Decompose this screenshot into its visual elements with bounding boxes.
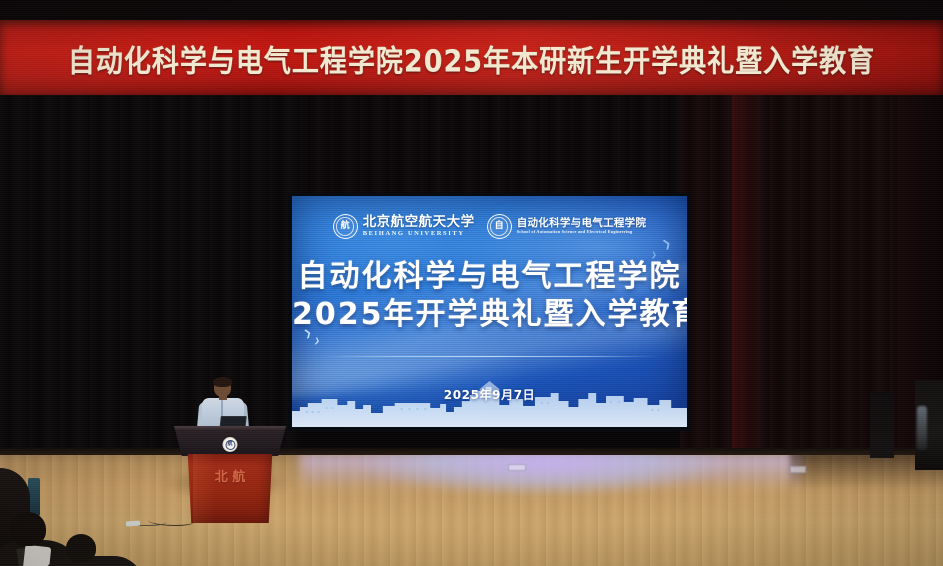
university-seal-glyph: 航: [334, 215, 357, 238]
audience-head: [66, 534, 96, 562]
floor-power-plate: [126, 521, 140, 527]
projection-screen: ❯ ❯ ❯ ❯ 航 北京航空航天大学 BEIHANG UNIVERSITY: [292, 196, 687, 427]
podium-top: 航: [174, 426, 286, 456]
projection-screen-frame: ❯ ❯ ❯ ❯ 航 北京航空航天大学 BEIHANG UNIVERSITY: [288, 193, 690, 431]
podium-highlight: [193, 454, 216, 523]
floor-marker: [508, 464, 526, 471]
podium-body: 北 航: [186, 454, 274, 523]
university-seal-icon: 航: [333, 214, 358, 239]
slide-title-divider: [320, 356, 659, 357]
podium-top-edge: [174, 426, 286, 430]
university-name-cn: 北京航空航天大学: [363, 216, 475, 230]
school-logo: 自 自动化科学与电气工程学院 School of Automation Scie…: [487, 214, 647, 239]
podium-calligraphy: 北 航: [186, 470, 274, 486]
speaker-hair: [213, 377, 232, 387]
auditorium-scene: 自动化科学与电气工程学院2025年本研新生开学典礼暨入学教育 ❯ ❯ ❯ ❯ 航: [0, 0, 943, 566]
floor-screen-glow: [330, 455, 760, 511]
stage-right-equipment: [870, 392, 894, 458]
podium-emblem-icon: 航: [223, 437, 238, 452]
slide-logo-row: 航 北京航空航天大学 BEIHANG UNIVERSITY 自 自动化科学与电气…: [292, 214, 687, 239]
ceiling-strip: [0, 0, 943, 21]
bird-decor-icon: ❯: [313, 337, 320, 345]
audience-silhouette: [56, 534, 126, 566]
audience-collar: [23, 545, 52, 566]
slide-title-line-1: 自动化科学与电气工程学院: [292, 258, 687, 296]
event-banner: 自动化科学与电气工程学院2025年本研新生开学典礼暨入学教育: [0, 20, 943, 96]
school-seal-glyph: 自: [488, 215, 511, 238]
event-banner-text: 自动化科学与电气工程学院2025年本研新生开学典礼暨入学教育: [68, 36, 875, 80]
audience-head: [10, 512, 46, 546]
school-seal-icon: 自: [487, 214, 512, 239]
university-name-en: BEIHANG UNIVERSITY: [363, 231, 475, 237]
university-logo: 航 北京航空航天大学 BEIHANG UNIVERSITY: [333, 214, 475, 239]
school-name-en: School of Automation Science and Electri…: [517, 231, 647, 235]
stage-right-figure: [915, 380, 943, 470]
podium-group: 航 北 航: [170, 378, 290, 523]
slide-title-line-2: 2025年开学典礼暨入学教育: [292, 296, 687, 334]
podium-emblem-glyph: 航: [225, 440, 235, 450]
slide-title: 自动化科学与电气工程学院 2025年开学典礼暨入学教育: [292, 258, 687, 335]
school-name-cn: 自动化科学与电气工程学院: [517, 218, 647, 229]
slide-date: 2025年9月7日: [292, 386, 687, 403]
floor-marker: [790, 466, 806, 473]
stage-right-figure-highlight: [917, 406, 927, 450]
